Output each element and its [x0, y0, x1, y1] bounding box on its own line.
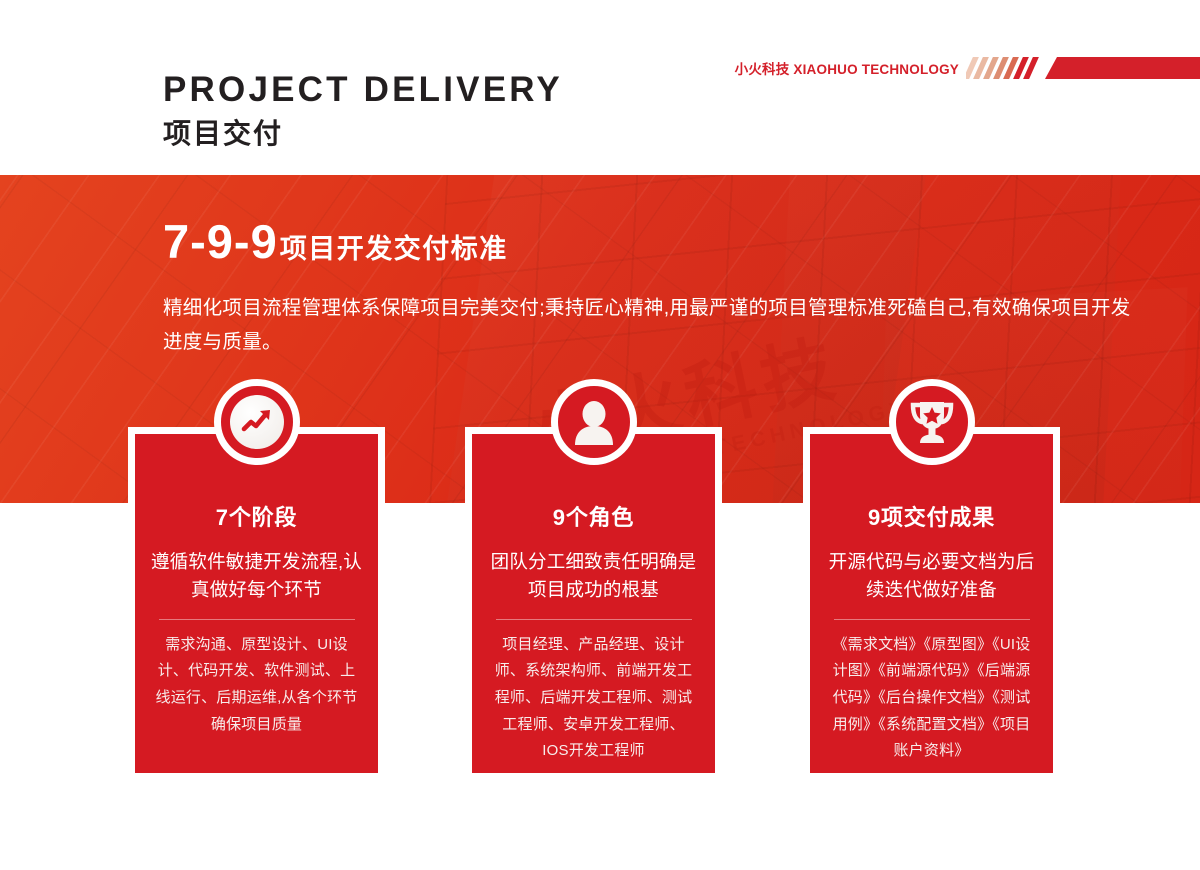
card-badge	[214, 379, 300, 465]
card-title: 7个阶段	[216, 507, 297, 529]
card-detail-list: 项目经理、产品经理、设计师、系统架构师、前端开发工程师、后端开发工程师、测试工程…	[490, 632, 698, 765]
person-icon	[572, 399, 616, 445]
card-detail-list: 需求沟通、原型设计、UI设计、代码开发、软件测试、上线运行、后期运维,从各个环节…	[153, 632, 361, 739]
card-badge	[551, 379, 637, 465]
card-deliverables[interactable]: 9项交付成果 开源代码与必要文档为后续迭代做好准备 《需求文档》《原型图》《UI…	[803, 427, 1060, 780]
card-title: 9项交付成果	[868, 507, 995, 529]
card-detail-list: 《需求文档》《原型图》《UI设计图》《前端源代码》《后端源代码》《后台操作文档》…	[828, 632, 1036, 765]
card-divider	[496, 619, 692, 620]
card-divider	[834, 619, 1030, 620]
card-title: 9个角色	[553, 507, 634, 529]
trophy-icon	[907, 399, 957, 445]
card-divider	[159, 619, 355, 620]
growth-chart-icon	[240, 407, 274, 437]
slide-page: PROJECT DELIVERY 项目交付 小火科技 XIAOHUO TECHN…	[0, 0, 1200, 870]
card-subtitle: 遵循软件敏捷开发流程,认真做好每个环节	[149, 548, 364, 604]
badge-disc	[230, 395, 284, 449]
card-roles[interactable]: 9个角色 团队分工细致责任明确是项目成功的根基 项目经理、产品经理、设计师、系统…	[465, 427, 722, 780]
card-subtitle: 团队分工细致责任明确是项目成功的根基	[486, 548, 701, 604]
card-subtitle: 开源代码与必要文档为后续迭代做好准备	[824, 548, 1039, 604]
card-stages[interactable]: 7个阶段 遵循软件敏捷开发流程,认真做好每个环节 需求沟通、原型设计、UI设计、…	[128, 427, 385, 780]
cards-container: 7个阶段 遵循软件敏捷开发流程,认真做好每个环节 需求沟通、原型设计、UI设计、…	[0, 0, 1200, 870]
card-badge	[889, 379, 975, 465]
